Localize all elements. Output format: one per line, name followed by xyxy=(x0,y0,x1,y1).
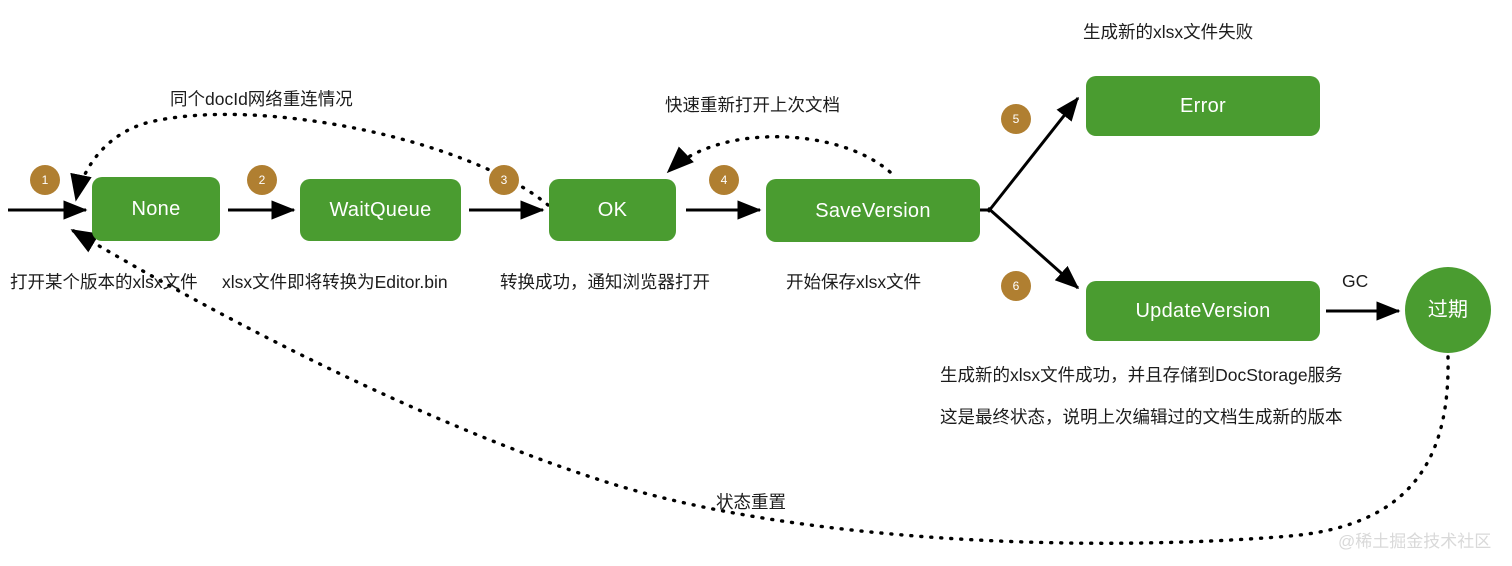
edge-label-reconnect: 同个docId网络重连情况 xyxy=(170,86,353,111)
step-badge-4[interactable]: 4 xyxy=(709,165,739,195)
watermark: @稀土掘金技术社区 xyxy=(1338,527,1491,552)
step-badge-6-label: 6 xyxy=(1013,279,1020,293)
step-badge-5-label: 5 xyxy=(1013,112,1020,126)
edge-label-gc: GC xyxy=(1342,271,1368,292)
edge-label-reopen: 快速重新打开上次文档 xyxy=(665,92,840,117)
node-error-label: Error xyxy=(1180,96,1226,116)
step-badge-2[interactable]: 2 xyxy=(247,165,277,195)
node-expired[interactable]: 过期 xyxy=(1405,267,1491,353)
caption-convert-editor: xlsx文件即将转换为Editor.bin xyxy=(222,272,448,293)
step-badge-5[interactable]: 5 xyxy=(1001,104,1031,134)
node-none-label: None xyxy=(131,199,180,219)
node-error[interactable]: Error xyxy=(1086,76,1320,136)
edge-label-state-reset: 状态重置 xyxy=(716,489,786,514)
edge-reopen-dotted xyxy=(668,137,890,172)
step-badge-1[interactable]: 1 xyxy=(30,165,60,195)
node-updateversion-label: UpdateVersion xyxy=(1135,301,1270,321)
step-badge-1-label: 1 xyxy=(42,173,49,187)
step-badge-3-label: 3 xyxy=(501,173,508,187)
diagram-canvas: None WaitQueue OK SaveVersion Error Upda… xyxy=(0,0,1512,566)
caption-convert-ok: 转换成功，通知浏览器打开 xyxy=(500,272,710,293)
node-none[interactable]: None xyxy=(92,177,220,241)
caption-generate-fail: 生成新的xlsx文件失败 xyxy=(1083,22,1253,43)
caption-generate-success: 生成新的xlsx文件成功，并且存储到DocStorage服务 xyxy=(940,365,1343,386)
step-badge-2-label: 2 xyxy=(259,173,266,187)
node-ok-label: OK xyxy=(598,200,628,220)
caption-final-state: 这是最终状态，说明上次编辑过的文档生成新的版本 xyxy=(940,407,1343,428)
node-saveversion-label: SaveVersion xyxy=(815,201,931,221)
node-waitqueue[interactable]: WaitQueue xyxy=(300,179,461,241)
node-updateversion[interactable]: UpdateVersion xyxy=(1086,281,1320,341)
caption-open-version: 打开某个版本的xlsx文件 xyxy=(10,272,198,293)
node-saveversion[interactable]: SaveVersion xyxy=(766,179,980,242)
node-waitqueue-label: WaitQueue xyxy=(329,200,431,220)
node-ok[interactable]: OK xyxy=(549,179,676,241)
step-badge-4-label: 4 xyxy=(721,173,728,187)
edge-saveversion-updateversion xyxy=(988,208,1078,288)
step-badge-3[interactable]: 3 xyxy=(489,165,519,195)
step-badge-6[interactable]: 6 xyxy=(1001,271,1031,301)
node-expired-label: 过期 xyxy=(1428,300,1469,320)
caption-save-start: 开始保存xlsx文件 xyxy=(786,272,921,293)
